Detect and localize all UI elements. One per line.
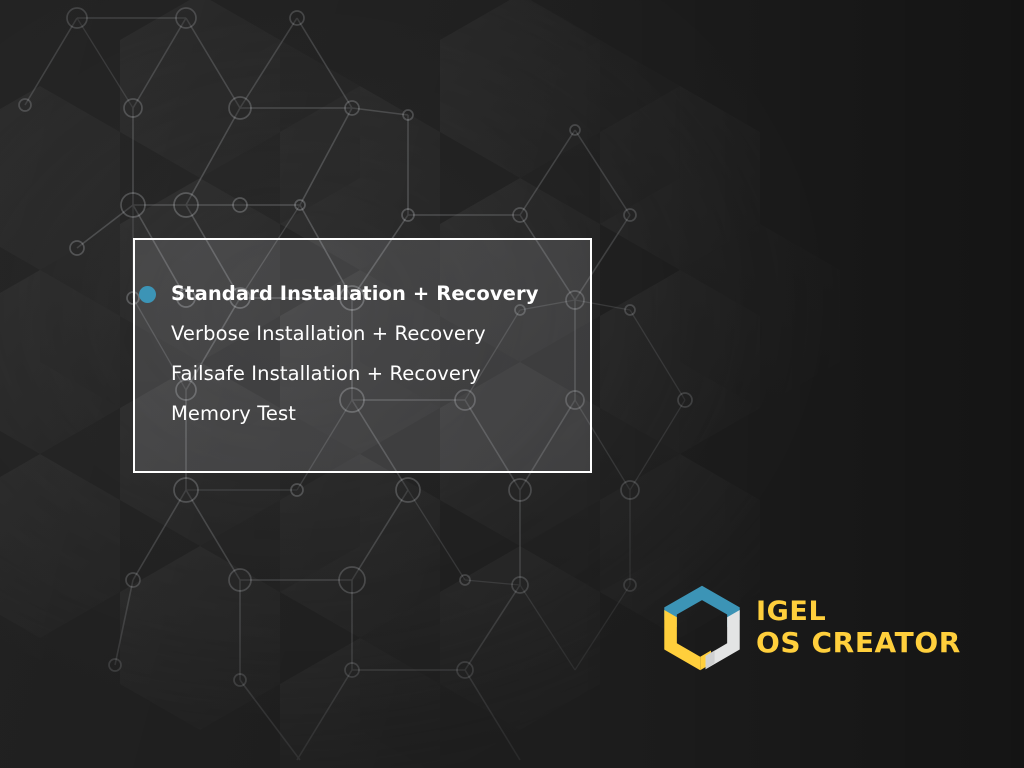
boot-menu-item-standard-installation[interactable]: Standard Installation + Recovery — [171, 279, 539, 309]
boot-menu-item-verbose-installation[interactable]: Verbose Installation + Recovery — [171, 319, 486, 349]
igel-os-creator-logo: IGEL OS CREATOR — [657, 582, 967, 674]
boot-menu-item-label: Verbose Installation + Recovery — [171, 324, 486, 344]
boot-menu-panel: Standard Installation + Recovery Verbose… — [133, 238, 592, 473]
boot-menu-item-label: Memory Test — [171, 404, 296, 424]
logo-left-segment — [664, 610, 700, 670]
logo-line-igel: IGEL — [756, 597, 961, 627]
boot-menu-item-label: Failsafe Installation + Recovery — [171, 364, 481, 384]
boot-menu-item-memory-test[interactable]: Memory Test — [171, 399, 296, 429]
boot-menu-item-label: Standard Installation + Recovery — [171, 284, 539, 304]
boot-menu-item-failsafe-installation[interactable]: Failsafe Installation + Recovery — [171, 359, 481, 389]
igel-hexagon-mark — [657, 584, 747, 672]
logo-line-os-creator: OS CREATOR — [756, 627, 961, 658]
selected-bullet-icon — [139, 286, 156, 303]
igel-logo-wordmark: IGEL OS CREATOR — [756, 597, 961, 659]
